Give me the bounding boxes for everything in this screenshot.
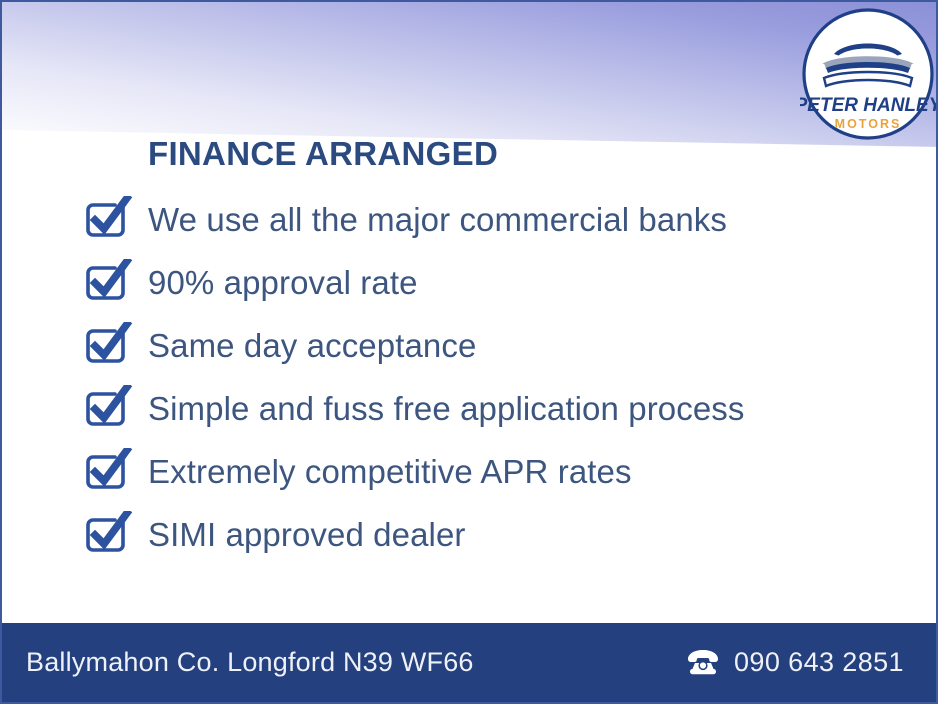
list-item-label: SIMI approved dealer <box>148 518 466 551</box>
list-item-label: 90% approval rate <box>148 266 418 299</box>
footer-address: Ballymahon Co. Longford N39 WF66 <box>26 647 474 678</box>
list-item-label: We use all the major commercial banks <box>148 203 727 236</box>
list-item: We use all the major commercial banks <box>82 188 912 251</box>
list-item-label: Extremely competitive APR rates <box>148 455 632 488</box>
logo-brand-line1: PETER HANLEY <box>800 95 936 116</box>
page-title: FINANCE ARRANGED <box>148 135 498 173</box>
footer-bar: Ballymahon Co. Longford N39 WF66 090 643… <box>2 623 936 702</box>
list-item: Extremely competitive APR rates <box>82 440 912 503</box>
checkbox-checked-icon <box>82 448 134 496</box>
checkbox-checked-icon <box>82 259 134 307</box>
finance-arranged-poster: PETER HANLEY MOTORS FINANCE ARRANGED We … <box>0 0 938 704</box>
list-item: Same day acceptance <box>82 314 912 377</box>
benefits-list: We use all the major commercial banks 90… <box>82 188 912 566</box>
footer-phone-number: 090 643 2851 <box>734 647 904 678</box>
list-item: 90% approval rate <box>82 251 912 314</box>
peter-hanley-motors-logo: PETER HANLEY MOTORS <box>800 6 936 142</box>
footer-phone-group[interactable]: 090 643 2851 <box>686 647 904 678</box>
checkbox-checked-icon <box>82 322 134 370</box>
logo-brand-line2: MOTORS <box>835 117 902 131</box>
checkbox-checked-icon <box>82 511 134 559</box>
telephone-icon <box>686 649 720 676</box>
list-item: SIMI approved dealer <box>82 503 912 566</box>
list-item-label: Same day acceptance <box>148 329 476 362</box>
checkbox-checked-icon <box>82 196 134 244</box>
list-item: Simple and fuss free application process <box>82 377 912 440</box>
list-item-label: Simple and fuss free application process <box>148 392 745 425</box>
checkbox-checked-icon <box>82 385 134 433</box>
